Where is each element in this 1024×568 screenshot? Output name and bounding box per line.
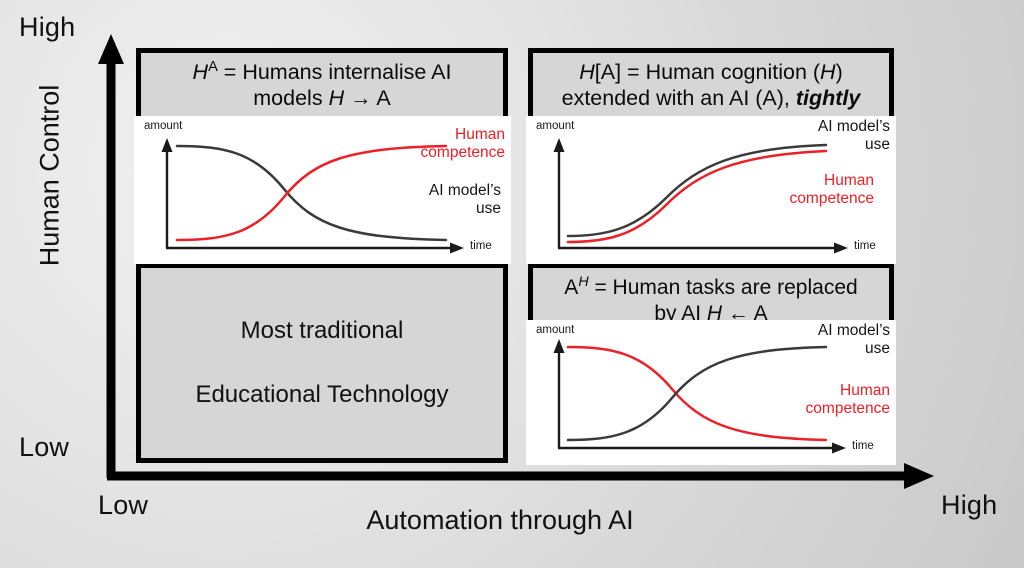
y-axis-arrow [98, 34, 124, 478]
quadrant-top-right-title: H[A] = Human cognition (H) extended with… [533, 59, 889, 111]
quadrant-br-line1-rest: = Human tasks are replaced [589, 276, 858, 299]
y-axis-title: Human Control [35, 71, 66, 281]
quadrant-bl-line2: Educational Technology [195, 379, 448, 411]
chart-panel-top-right: amount time AI model’s use Human compete… [526, 116, 896, 264]
quadrant-tr-brackets: [A] [595, 60, 621, 84]
slide-canvas: High Low Human Control Low High Automati… [0, 0, 1024, 568]
chart-tr-ylabel: amount [536, 120, 574, 132]
chart-tr-legend-ai-l2: use [865, 136, 890, 153]
quadrant-tr-var-h: H [579, 60, 595, 84]
quadrant-tr-emphasis: tightly [796, 86, 861, 110]
chart-panel-bottom-right: amount time AI model’s use Human compete… [526, 320, 896, 465]
chart-tl-legend-ai-l1: AI model’s [429, 182, 501, 199]
chart-tr-legend-human-competence: Human competence [744, 172, 874, 207]
chart-tl-xlabel: time [470, 240, 492, 252]
quadrant-tr-line1-var: H [820, 60, 836, 84]
quadrant-tl-sup-a: A [208, 59, 218, 75]
chart-br-legend-hc-l1: Human [840, 382, 890, 399]
quadrant-br-var-a: A [564, 276, 578, 299]
chart-br-ylabel: amount [536, 324, 574, 336]
chart-tr-xlabel: time [854, 240, 876, 252]
chart-br-legend-ai-l2: use [865, 340, 890, 357]
quadrant-top-left-title: HA = Humans internalise AI models H → A [141, 59, 503, 112]
quadrant-tl-line2-var: H [329, 86, 345, 110]
quadrant-tl-line2-post: A [372, 86, 391, 110]
quadrant-bottom-left[interactable]: Most traditionalEducational Technology [136, 263, 508, 463]
chart-tr-legend-hc-l2: competence [790, 190, 874, 207]
chart-tl-legend-hc-l2: competence [421, 144, 505, 161]
y-axis-high-label: High [19, 12, 75, 43]
quadrant-tl-line1-rest: = Humans internalise AI [218, 60, 452, 84]
quadrant-bottom-right-title: AH = Human tasks are replaced by AI H ← … [533, 274, 889, 326]
chart-tl-legend-ai-l2: use [476, 200, 501, 217]
chart-tl-legend-ai-model-use: AI model’s use [381, 182, 501, 217]
y-axis-low-label: Low [19, 432, 69, 463]
chart-tr-legend-hc-l1: Human [824, 172, 874, 189]
chart-br-legend-ai-model-use: AI model’s use [770, 322, 890, 357]
quadrant-tr-line2-pre: extended with an AI (A), [562, 86, 796, 110]
chart-br-legend-human-competence: Human competence [760, 382, 890, 417]
quadrant-bottom-left-body: Most traditionalEducational Technology [141, 268, 503, 458]
quadrant-tl-line2-pre: models [253, 86, 328, 110]
chart-tr-legend-ai-l1: AI model’s [818, 118, 890, 135]
chart-br-legend-ai-l1: AI model’s [818, 322, 890, 339]
chart-tl-ylabel: amount [144, 120, 182, 132]
right-arrow-icon: → [350, 86, 372, 110]
chart-tl-legend-human-competence: Human competence [375, 126, 505, 161]
quadrant-tr-line1-end: ) [836, 60, 843, 84]
quadrant-br-sup-h: H [578, 274, 588, 290]
x-axis-low-label: Low [98, 490, 148, 521]
quadrant-tl-var-h: H [193, 60, 209, 84]
quadrant-bl-line1: Most traditional [195, 315, 448, 347]
quadrant-bl-text: Most traditionalEducational Technology [195, 315, 448, 410]
x-axis-arrow [107, 463, 934, 489]
chart-tr-legend-ai-model-use: AI model’s use [770, 118, 890, 153]
chart-panel-top-left: amount time Human competence AI model’s … [134, 116, 511, 264]
chart-tl-legend-hc-l1: Human [455, 126, 505, 143]
x-axis-high-label: High [941, 490, 997, 521]
x-axis-title: Automation through AI [250, 505, 750, 536]
chart-br-xlabel: time [852, 440, 874, 452]
chart-br-legend-hc-l2: competence [806, 400, 890, 417]
quadrant-tr-line1-mid: = Human cognition ( [621, 60, 820, 84]
